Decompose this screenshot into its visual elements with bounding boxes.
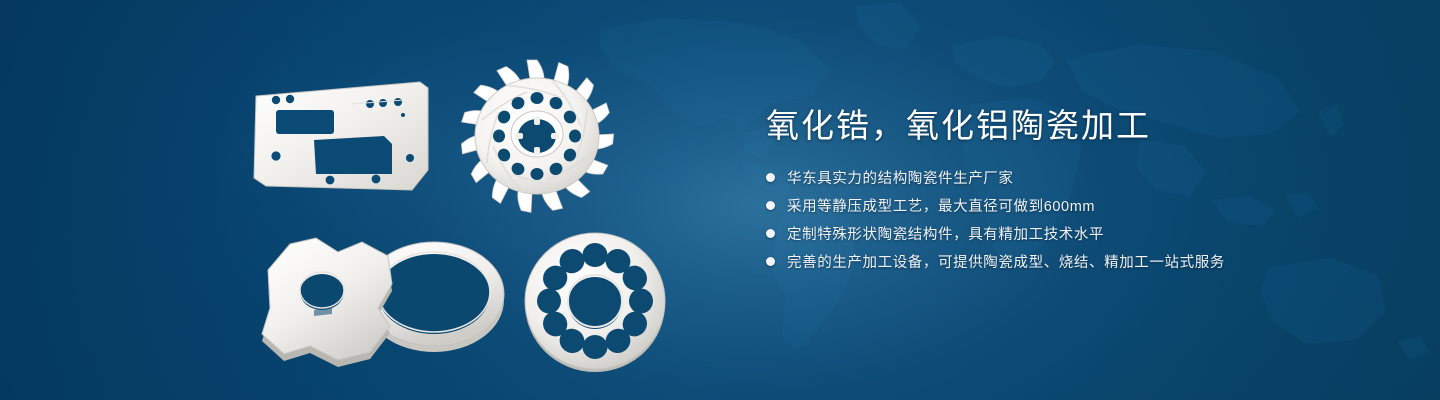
promo-banner: 氧化锆，氧化铝陶瓷加工 华东具实力的结构陶瓷件生产厂家 采用等静压成型工艺，最大… [0,0,1440,400]
bullet-text: 完善的生产加工设备，可提供陶瓷成型、烧结、精加工一站式服务 [787,251,1225,272]
bullet-text: 采用等静压成型工艺，最大直径可做到600mm [787,195,1095,216]
ceramic-impeller-wheel [452,52,622,222]
bullet-text: 华东具实力的结构陶瓷件生产厂家 [787,167,1014,188]
bullet-dot-icon [766,229,775,238]
list-item: 华东具实力的结构陶瓷件生产厂家 [766,166,1386,189]
feature-bullet-list: 华东具实力的结构陶瓷件生产厂家 采用等静压成型工艺，最大直径可做到600mm 定… [766,166,1386,273]
product-image-cluster [0,0,720,400]
banner-copy: 氧化锆，氧化铝陶瓷加工 华东具实力的结构陶瓷件生产厂家 采用等静压成型工艺，最大… [766,108,1386,278]
ceramic-flange-disc [518,228,672,374]
ceramic-cross-plate [254,230,426,370]
list-item: 采用等静压成型工艺，最大直径可做到600mm [766,194,1386,217]
bullet-text: 定制特殊形状陶瓷结构件，具有精加工技术水平 [787,223,1104,244]
ceramic-machined-plate [252,78,432,196]
list-item: 完善的生产加工设备，可提供陶瓷成型、烧结、精加工一站式服务 [766,250,1386,273]
page-title: 氧化锆，氧化铝陶瓷加工 [766,108,1386,144]
bullet-dot-icon [766,257,775,266]
bullet-dot-icon [766,173,775,182]
list-item: 定制特殊形状陶瓷结构件，具有精加工技术水平 [766,222,1386,245]
bullet-dot-icon [766,201,775,210]
